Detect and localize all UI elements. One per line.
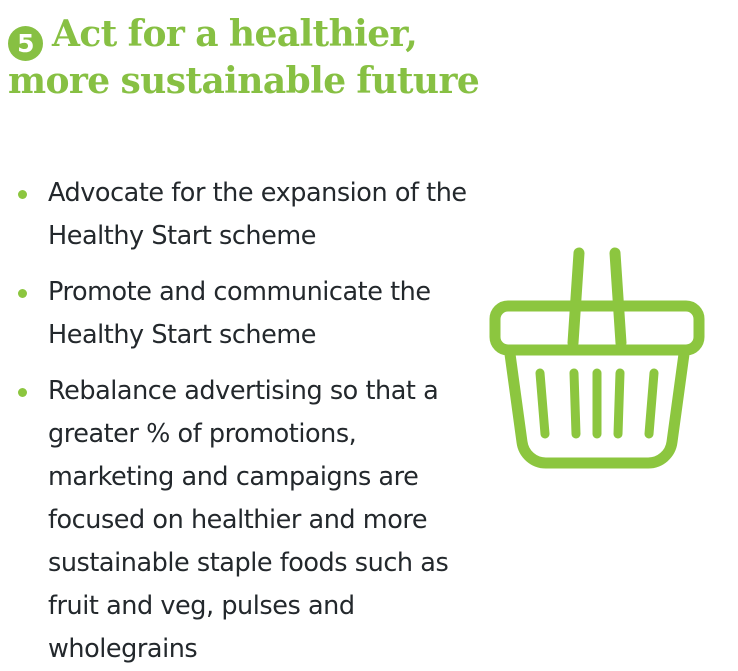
shopping-basket-graphic xyxy=(483,236,711,481)
list-item-text: Promote and communicate the Healthy Star… xyxy=(48,277,431,350)
heading-block: 5Act for a healthier, more sustainable f… xyxy=(8,14,508,102)
basket-slot xyxy=(618,373,620,434)
list-item: Rebalance advertising so that a greater … xyxy=(10,370,480,671)
basket-slot xyxy=(574,373,576,434)
shopping-basket-icon xyxy=(483,236,711,481)
list-item-text: Rebalance advertising so that a greater … xyxy=(48,376,448,664)
recommendation-list: Advocate for the expansion of the Health… xyxy=(10,172,480,671)
basket-slot xyxy=(649,373,654,434)
page-title: 5Act for a healthier, more sustainable f… xyxy=(8,14,508,102)
basket-rim xyxy=(495,306,699,350)
list-item-text: Advocate for the expansion of the Health… xyxy=(48,178,467,251)
basket-slot xyxy=(540,373,545,434)
bullet-dot-icon xyxy=(18,190,27,199)
basket-handle-right xyxy=(615,253,621,343)
list-item: Advocate for the expansion of the Health… xyxy=(10,172,480,258)
basket-slots xyxy=(540,373,654,434)
bullet-dot-icon xyxy=(18,388,27,397)
page-title-text: Act for a healthier, more sustainable fu… xyxy=(8,13,479,102)
list-item: Promote and communicate the Healthy Star… xyxy=(10,271,480,357)
bullet-dot-icon xyxy=(18,289,27,298)
section-number-badge: 5 xyxy=(8,26,43,61)
slide-canvas: 5Act for a healthier, more sustainable f… xyxy=(0,0,738,658)
basket-handle-left xyxy=(573,253,579,343)
